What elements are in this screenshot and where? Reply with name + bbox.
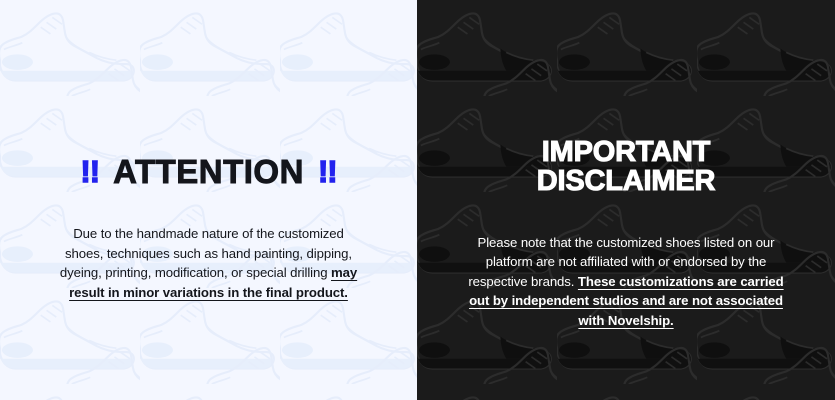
attention-body-text: Due to the handmade nature of the custom… bbox=[53, 224, 365, 302]
disclaimer-heading-line1: IMPORTANT bbox=[542, 136, 710, 168]
disclaimer-heading: IMPORTANT DISCLAIMER bbox=[537, 138, 715, 196]
attention-heading-word: ATTENTION bbox=[113, 155, 304, 188]
double-exclamation-left-icon: !! bbox=[80, 156, 99, 187]
attention-body-normal: Due to the handmade nature of the custom… bbox=[60, 226, 352, 280]
dual-notice-banner: !! ATTENTION !! Due to the handmade natu… bbox=[0, 0, 835, 400]
disclaimer-panel: IMPORTANT DISCLAIMER Please note that th… bbox=[417, 0, 835, 400]
attention-heading: !! ATTENTION !! bbox=[80, 155, 336, 188]
double-exclamation-right-icon: !! bbox=[318, 156, 337, 187]
attention-panel: !! ATTENTION !! Due to the handmade natu… bbox=[0, 0, 417, 400]
disclaimer-body-text: Please note that the customized shoes li… bbox=[466, 233, 786, 331]
attention-content: !! ATTENTION !! Due to the handmade natu… bbox=[0, 0, 417, 315]
disclaimer-content: IMPORTANT DISCLAIMER Please note that th… bbox=[417, 0, 835, 344]
disclaimer-heading-line2: DISCLAIMER bbox=[537, 167, 715, 196]
